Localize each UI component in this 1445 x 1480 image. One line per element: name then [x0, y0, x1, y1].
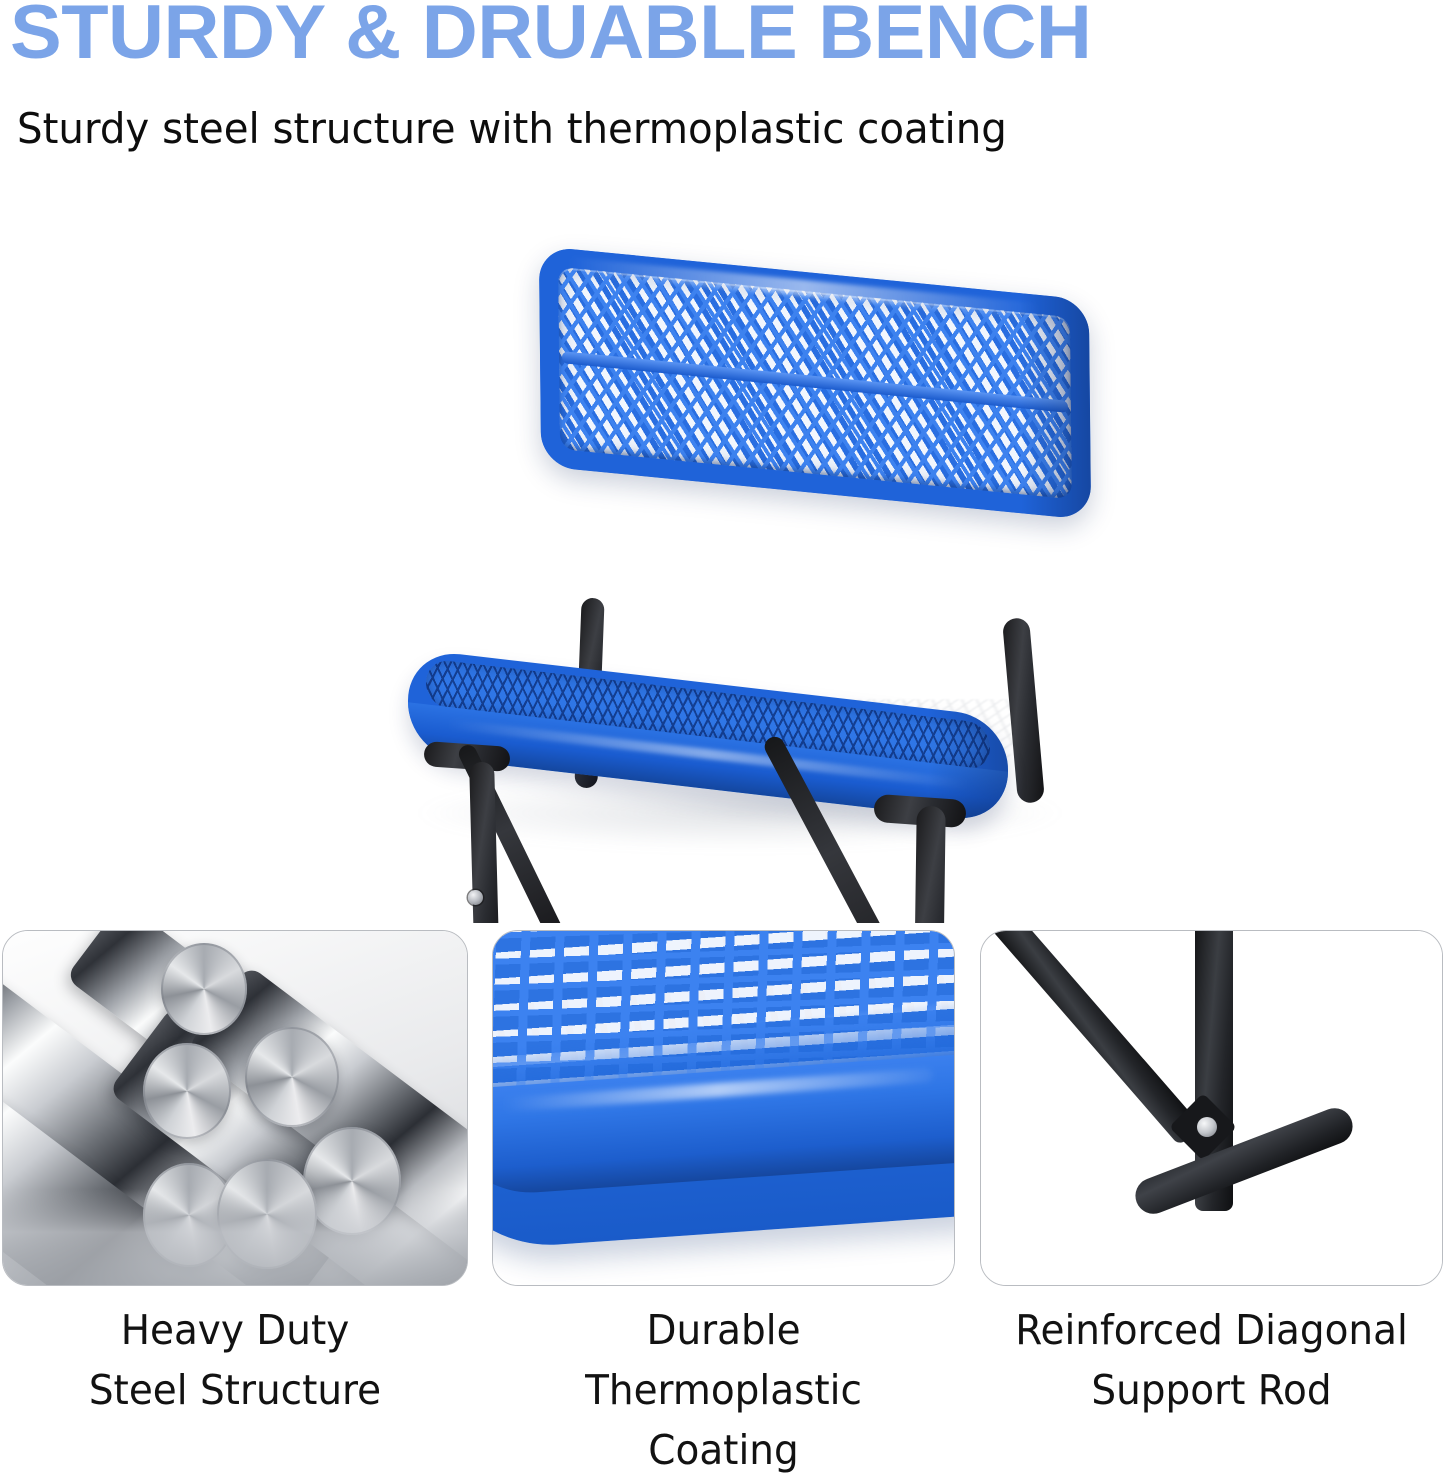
steel-bars-floor-shadow — [3, 1189, 467, 1285]
hero-product-image — [0, 178, 1445, 923]
caption-line-2: Coating — [504, 1420, 944, 1480]
bolt-icon — [468, 890, 483, 905]
caption-line-2: Steel Structure — [14, 1360, 457, 1420]
steel-bar-end-face — [143, 1043, 231, 1139]
backrest-shading — [1019, 293, 1091, 520]
coated-mesh-image — [493, 931, 954, 1285]
diagonal-support-rod — [989, 931, 1202, 1146]
feature-panel-diagonal-support-rod — [980, 930, 1443, 1286]
caption-row: Heavy Duty Steel Structure Durable Therm… — [0, 1300, 1445, 1427]
caption-diagonal-support-rod: Reinforced Diagonal Support Rod — [992, 1300, 1432, 1420]
caption-line-1: Heavy Duty — [121, 1306, 350, 1354]
caption-thermoplastic-coating: Durable Thermoplastic Coating — [504, 1300, 944, 1480]
bench-leg-right — [913, 806, 945, 923]
bench-illustration — [0, 178, 1445, 923]
page-title: STURDY & DRUABLE BENCH — [10, 0, 1091, 75]
caption-steel-structure: Heavy Duty Steel Structure — [14, 1300, 457, 1420]
caption-line-2: Support Rod — [992, 1360, 1432, 1420]
page-subtitle: Sturdy steel structure with thermoplasti… — [17, 104, 1007, 153]
steel-bars-image — [3, 931, 467, 1285]
support-rod-image — [981, 931, 1442, 1285]
caption-line-1: Reinforced Diagonal — [1015, 1306, 1408, 1354]
caption-line-1: Durable Thermoplastic — [585, 1306, 862, 1414]
bench-backrest — [539, 246, 1091, 520]
feature-panel-row — [0, 930, 1445, 1290]
steel-bar-end-face — [245, 1027, 339, 1127]
bolt-icon — [1197, 1117, 1217, 1137]
feature-panel-thermoplastic-coating — [492, 930, 955, 1286]
steel-bar-end-face — [161, 943, 247, 1035]
feature-panel-steel-structure — [2, 930, 468, 1286]
header: STURDY & DRUABLE BENCH Sturdy steel stru… — [0, 0, 1445, 180]
